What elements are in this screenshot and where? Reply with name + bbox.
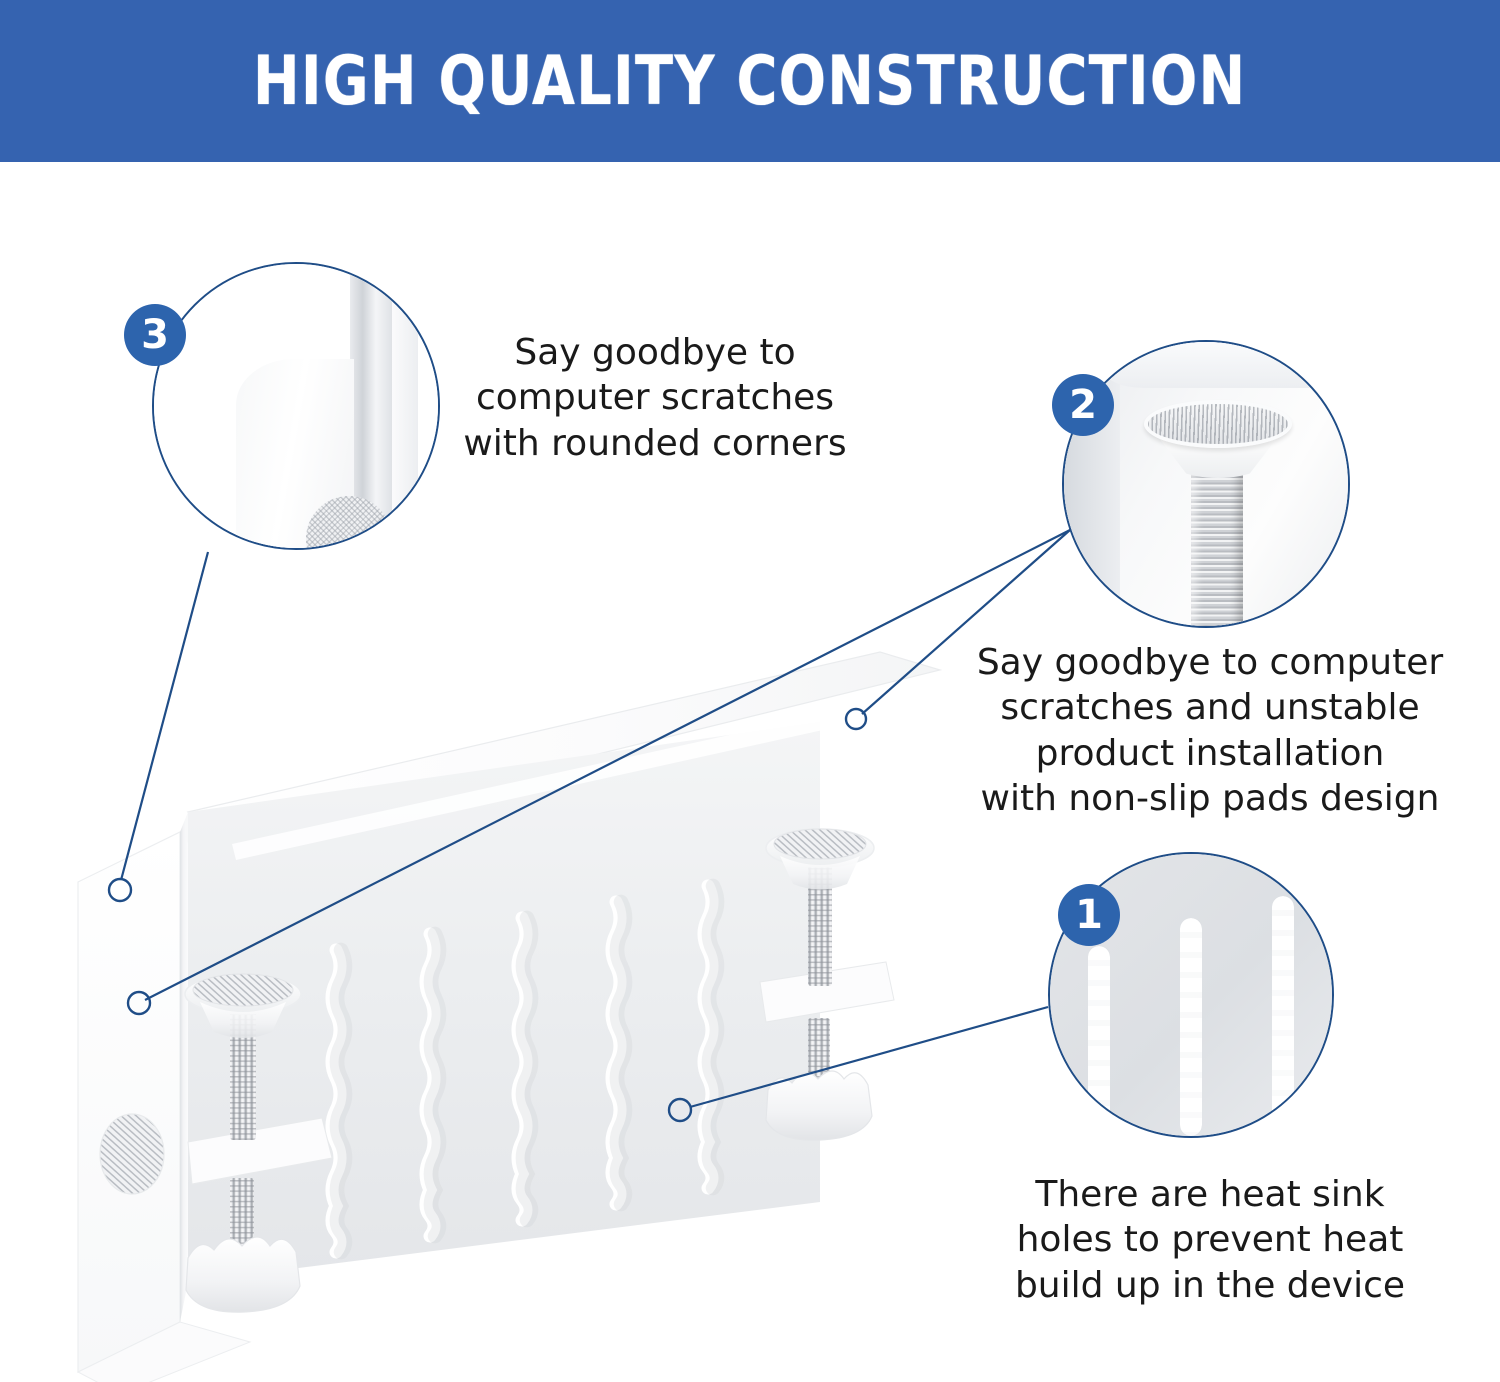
heat-sink-slot-closeup <box>1088 946 1110 1134</box>
screw-thread-closeup <box>1191 470 1243 628</box>
heat-sink-slot <box>612 902 625 1204</box>
callout-badge-1: 1 <box>1058 884 1120 946</box>
tray-edge-secondary <box>392 262 418 550</box>
heat-sink-slot <box>704 886 717 1188</box>
tray-top-edge <box>1104 342 1350 388</box>
page-title: HIGH QUALITY CONSTRUCTION <box>253 42 1246 121</box>
inset-content <box>154 264 438 548</box>
non-slip-pad-closeup <box>1144 400 1292 448</box>
callout-text-3: Say goodbye to computer scratches with r… <box>420 330 890 466</box>
heat-sink-slot <box>426 934 439 1236</box>
product-illustration <box>60 582 960 1382</box>
product-inner-edge <box>180 812 188 1322</box>
non-slip-pad <box>185 974 301 1014</box>
callout-badge-3: 3 <box>124 304 186 366</box>
heat-sink-slot <box>518 918 531 1220</box>
non-slip-pad-side <box>100 1114 164 1194</box>
heat-sink-slot <box>332 950 345 1252</box>
heat-sink-slot-closeup <box>1272 896 1294 1132</box>
clamp-knob <box>186 1237 300 1312</box>
heat-sink-slot-closeup <box>1180 918 1202 1136</box>
callout-text-1: There are heat sink holes to prevent hea… <box>980 1172 1440 1308</box>
callout-text-2: Say goodbye to computer scratches and un… <box>930 640 1490 821</box>
callout-badge-2: 2 <box>1052 374 1114 436</box>
zoom-inset-rounded-corner <box>152 262 440 550</box>
infographic-stage: 3 2 1 Say goodbye to computer scratches … <box>0 162 1500 1381</box>
clamp-knob <box>766 1071 872 1140</box>
non-slip-pad <box>766 829 874 867</box>
product-back-panel <box>78 832 180 1372</box>
header-banner: HIGH QUALITY CONSTRUCTION <box>0 0 1500 162</box>
